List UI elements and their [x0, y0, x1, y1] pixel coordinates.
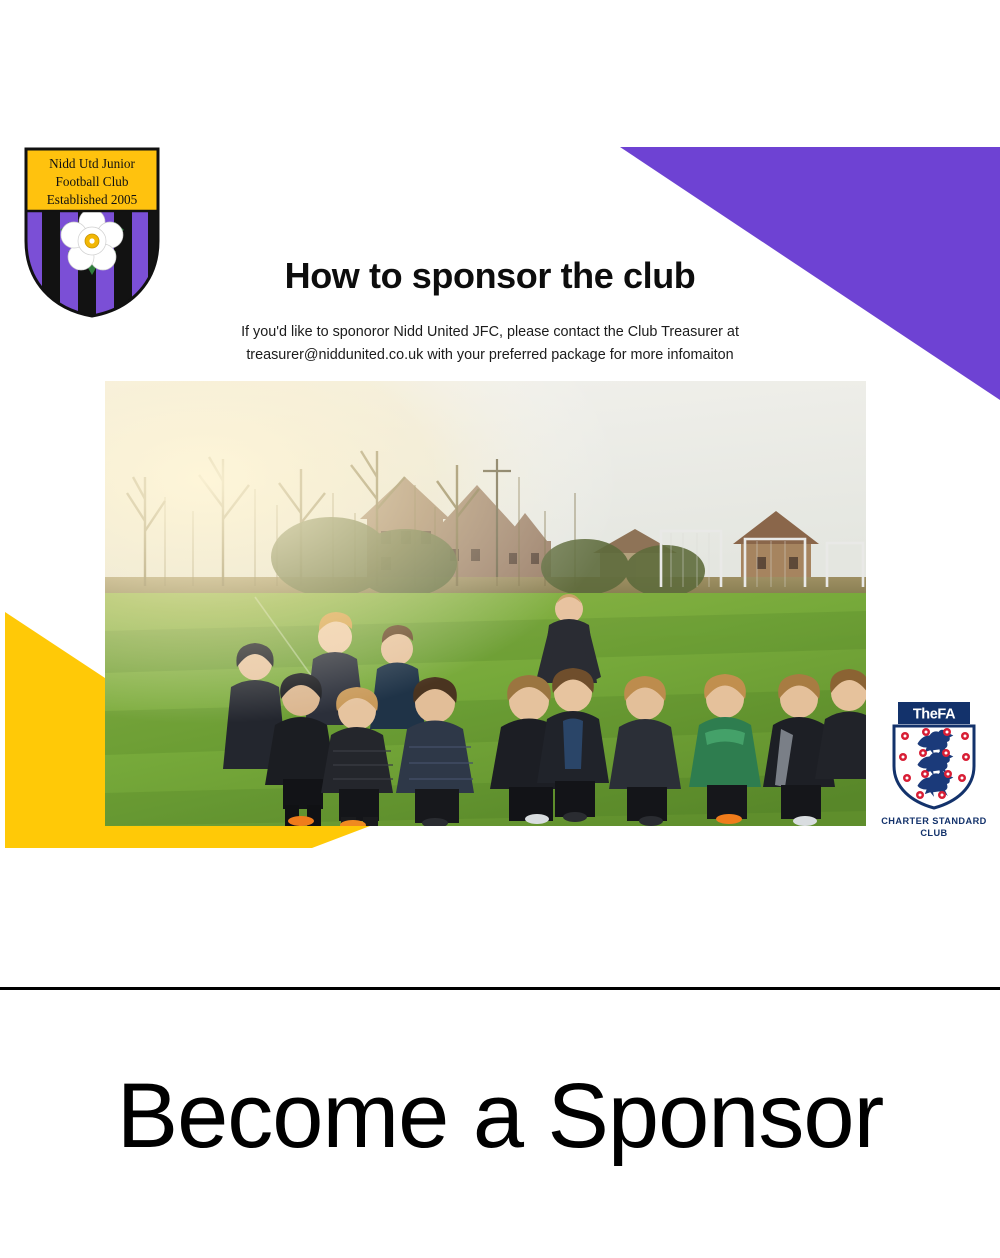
crest-banner-line-2: Football Club	[56, 174, 129, 189]
fa-crest-icon: TheFA	[880, 700, 988, 812]
sponsor-contact-text: If you'd like to sponoror Nidd United JF…	[210, 321, 770, 366]
fa-charter-standard-logo: TheFA	[880, 700, 988, 848]
crest-banner-line-3: Established 2005	[47, 192, 138, 207]
team-huddle-photo	[105, 381, 866, 826]
fa-caption-line-2: CLUB	[880, 827, 988, 839]
crest-banner-line-1: Nidd Utd Junior	[49, 156, 135, 171]
section-divider	[0, 987, 1000, 990]
footer-title: Become a Sponsor	[0, 1068, 1000, 1165]
svg-text:TheFA: TheFA	[913, 707, 956, 723]
club-crest: Nidd Utd Junior Football Club Establishe…	[22, 145, 162, 320]
fa-caption-line-1: CHARTER STANDARD	[880, 815, 988, 827]
page-title: How to sponsor the club	[180, 256, 800, 296]
poster-page: Nidd Utd Junior Football Club Establishe…	[0, 0, 1000, 1258]
